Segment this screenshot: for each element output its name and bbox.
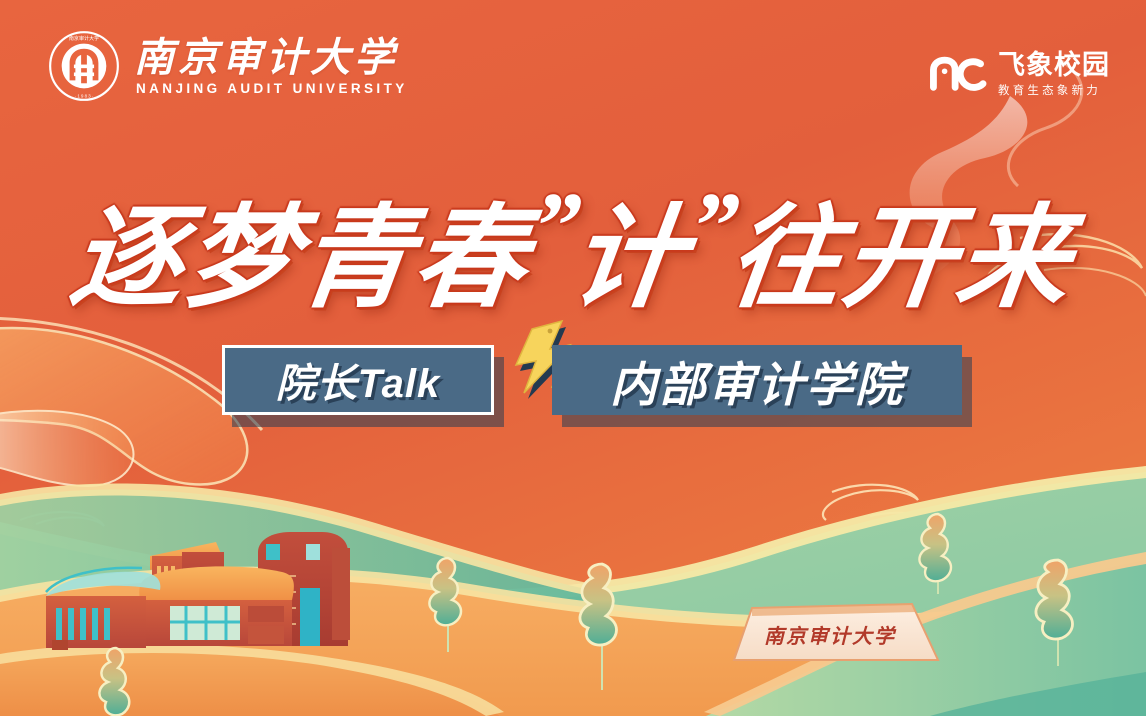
- headline-keyword: 计: [564, 197, 693, 321]
- program-label-box: 院长Talk: [222, 345, 494, 415]
- campus-gate-sign-label: 南京审计大学: [724, 620, 936, 649]
- entrance-tall: [300, 588, 320, 646]
- subtitle-bar: 院长Talk 内部审计学院: [222, 345, 962, 415]
- banner-header: 南京审计大学 · 1 9 8 3 · 南京审计大学 NANJING AUDIT …: [0, 0, 1146, 140]
- program-label: 院长Talk: [276, 351, 441, 409]
- university-name-en: NANJING AUDIT UNIVERSITY: [134, 81, 408, 96]
- partner-logo: 飞象校园 教育生态象新力: [926, 52, 1110, 98]
- window-tall-1: [266, 544, 280, 560]
- university-name-block: 南京审计大学 NANJING AUDIT UNIVERSITY: [134, 37, 408, 96]
- university-logo: 南京审计大学 · 1 9 8 3 · 南京审计大学 NANJING AUDIT …: [48, 30, 408, 102]
- svg-text:· 1 9 8 3 ·: · 1 9 8 3 ·: [75, 94, 93, 99]
- partner-name-block: 飞象校园 教育生态象新力: [998, 52, 1110, 98]
- university-name-cn: 南京审计大学: [134, 37, 408, 79]
- svg-text:南京审计大学: 南京审计大学: [69, 35, 99, 42]
- window-tall-2: [306, 544, 320, 560]
- headline-text: 逐梦青春”计”往开来: [0, 178, 1146, 315]
- feixiang-campus-mark-icon: [926, 55, 988, 95]
- campus-gate-sign-text-wrap: 南京审计大学: [724, 604, 936, 660]
- headline-part-2: 往开来: [722, 197, 1079, 321]
- headline-part-1: 逐梦青春: [64, 197, 535, 321]
- partner-name-cn: 飞象校园: [998, 52, 1110, 79]
- main-right-panel-b: [248, 626, 284, 644]
- building-tall-side: [332, 548, 350, 640]
- left-wing-door: [52, 640, 68, 650]
- main-right-panel-a: [248, 606, 284, 622]
- nanjing-audit-university-seal-icon: 南京审计大学 · 1 9 8 3 ·: [48, 30, 120, 102]
- promotional-banner: 南京审计大学 · 1 9 8 3 · 南京审计大学 NANJING AUDIT …: [0, 0, 1146, 716]
- college-label: 内部审计学院: [610, 346, 904, 415]
- partner-tagline: 教育生态象新力: [998, 82, 1101, 98]
- college-label-box: 内部审计学院: [552, 345, 962, 415]
